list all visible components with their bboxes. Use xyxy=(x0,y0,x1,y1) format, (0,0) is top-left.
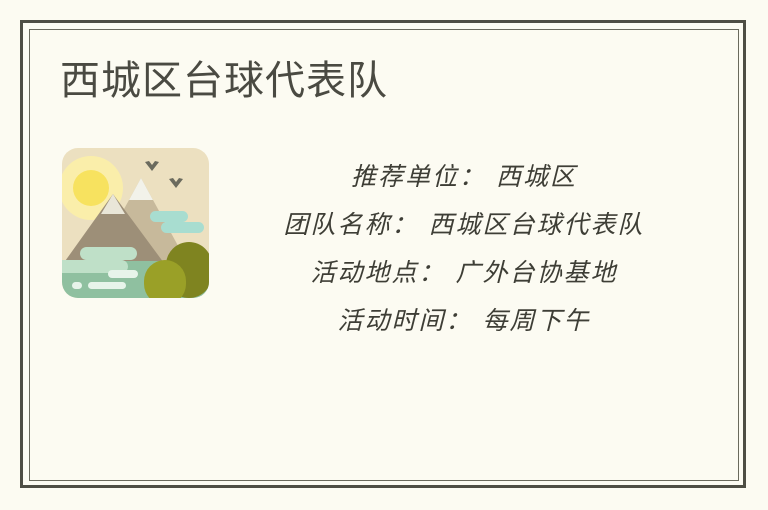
info-line-location: 活动地点： 广外台协基地 xyxy=(229,249,699,297)
info-line-team-name: 团队名称： 西城区台球代表队 xyxy=(229,201,699,249)
team-info-list: 推荐单位： 西城区 团队名称： 西城区台球代表队 活动地点： 广外台协基地 活动… xyxy=(229,153,699,345)
team-detail-row: 推荐单位： 西城区 团队名称： 西城区台球代表队 活动地点： 广外台协基地 活动… xyxy=(29,139,739,379)
landscape-placeholder-icon xyxy=(62,148,209,298)
info-line-time: 活动时间： 每周下午 xyxy=(229,297,699,345)
page-root: 西城区台球代表队 xyxy=(0,0,768,510)
card-content: 西城区台球代表队 xyxy=(29,29,739,481)
info-line-recommender: 推荐单位： 西城区 xyxy=(229,153,699,201)
page-title: 西城区台球代表队 xyxy=(60,57,388,105)
team-thumbnail-image xyxy=(62,148,209,298)
